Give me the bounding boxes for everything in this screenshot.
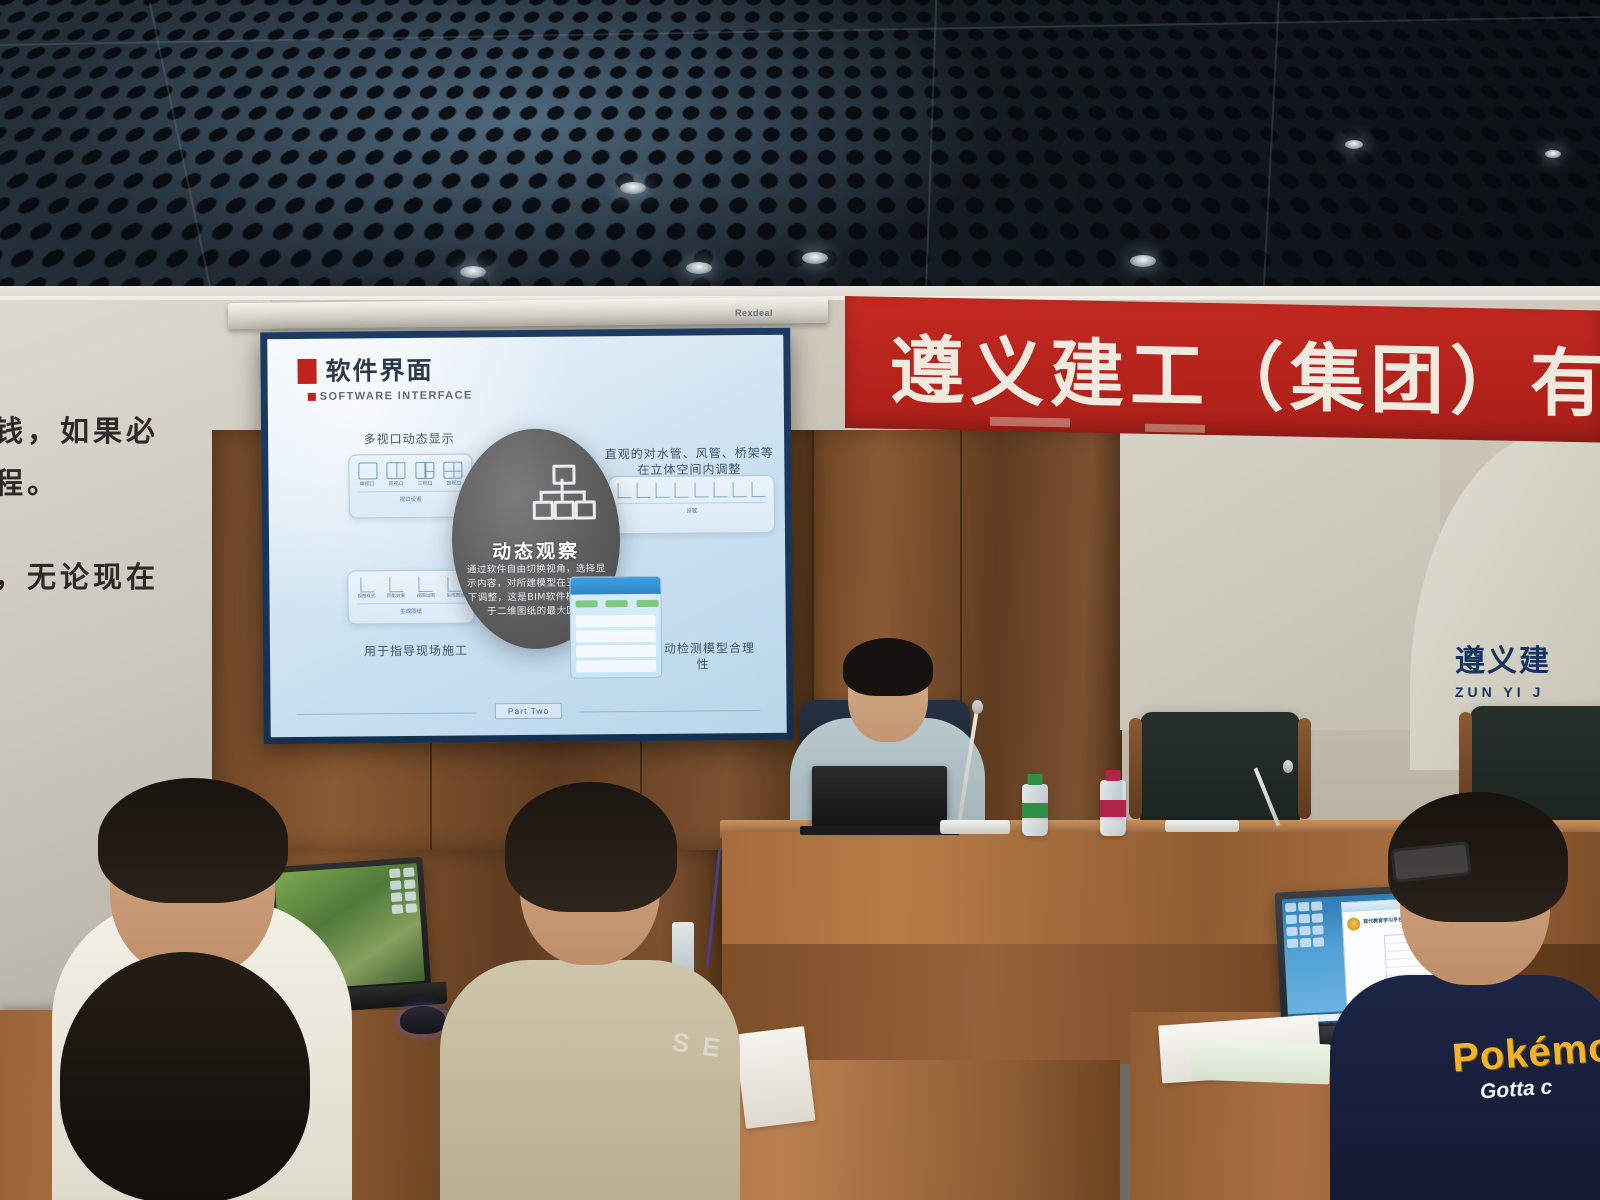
perforated-ceiling (0, 0, 1600, 300)
modeling-toolbar-card: 设置 (608, 475, 774, 534)
microphone-capsule (972, 700, 983, 714)
desktop-icon[interactable] (405, 891, 417, 901)
desktop-icon[interactable] (1299, 926, 1310, 936)
slide-footer-tag: Part Two (495, 703, 563, 720)
downlight (620, 182, 646, 194)
desktop-icon[interactable] (404, 879, 416, 889)
drawing-tool-captions: 视图样式 阴影效果 视图出图 生成图纸 (348, 592, 473, 599)
desktop-icon[interactable] (403, 867, 415, 877)
tool-caption: 生成图纸 (447, 593, 465, 599)
center-title: 动态观察 (452, 536, 620, 564)
drawing-tool-row (348, 570, 473, 593)
bottle-label (1022, 803, 1048, 819)
poster-line-1: 钱，如果必 (0, 405, 154, 457)
slide-label-top-left: 多视口动态显示 (334, 430, 484, 447)
panel-button[interactable] (576, 600, 598, 607)
panel-list-row (576, 615, 656, 628)
hierarchy-node-left (533, 501, 554, 520)
footer-rule-left (297, 712, 477, 715)
audience-person-white-shirt-hair (98, 778, 288, 903)
hierarchy-node-top (552, 465, 575, 485)
downlight (1130, 255, 1156, 267)
view-style-icon (361, 577, 375, 592)
desktop-icon[interactable] (1313, 937, 1324, 947)
banner-tape (990, 417, 1070, 428)
poster-line-3: ，无论现在 (0, 551, 154, 603)
conference-room-photo: 钱，如果必 程。 ，无论现在 。 遵义建 ZUN YI J 遵义建工（集团）有限… (0, 0, 1600, 1200)
drawing-tools-card: 视图样式 阴影效果 视图出图 生成图纸 生成图纸 (347, 569, 474, 624)
water-bottle-green[interactable] (1022, 784, 1048, 836)
desktop-icon[interactable] (1287, 939, 1298, 949)
downlight (686, 262, 712, 274)
desktop-icon[interactable] (391, 892, 403, 902)
slide-accent-square (308, 393, 316, 401)
slide-accent-box (297, 359, 316, 384)
projector-brand-label: Rexdeal (735, 308, 805, 318)
panel-button[interactable] (636, 600, 658, 607)
desktop-icon[interactable] (1299, 914, 1310, 924)
desktop-icon[interactable] (392, 904, 404, 914)
toolbar-footer: 设置 (618, 502, 766, 515)
desktop-icon[interactable] (1300, 938, 1311, 948)
desktop-icon[interactable] (1286, 927, 1297, 937)
desktop-icon[interactable] (1312, 925, 1323, 935)
panel-list-row (576, 645, 656, 658)
hierarchy-link (561, 479, 564, 491)
hierarchy-link (540, 491, 543, 501)
viewport-caption: 单视口 (359, 480, 374, 487)
viewport-triple-icon (415, 462, 434, 479)
viewport-dual-icon (387, 462, 406, 479)
desktop-icon[interactable] (1285, 903, 1296, 913)
viewport-caption: 四视口 (446, 480, 461, 487)
desktop-icon-grid[interactable] (389, 867, 417, 914)
poster-line-2: 程。 (0, 457, 154, 509)
downlight (460, 266, 486, 278)
desktop-icon[interactable] (1298, 902, 1309, 912)
banner-text: 遵义建工（集团）有限 (890, 311, 1600, 425)
light-wall-panel (1120, 430, 1440, 730)
presenter-laptop-screen[interactable] (812, 766, 947, 828)
gaming-mouse[interactable] (400, 1006, 446, 1034)
tool-caption: 视图出图 (417, 593, 435, 599)
hierarchy-node-right (575, 500, 596, 519)
projection-screen-frame: 软件界面 SOFTWARE INTERFACE 多视口动态显示 直观的对水管、风… (260, 328, 794, 745)
pipe-icon (656, 483, 670, 498)
microphone-capsule (1283, 760, 1293, 773)
panel-button[interactable] (606, 600, 628, 607)
footer-rule-right (581, 710, 761, 713)
list-icon (733, 482, 747, 497)
toolbar-icon-row (609, 476, 773, 499)
microphone-base (1165, 820, 1239, 832)
window-title: 现代教育学习平台 (1363, 916, 1403, 925)
desktop-icon[interactable] (1311, 901, 1322, 911)
audience-person-navy-shirt-body (1330, 975, 1600, 1200)
wall-sign-chinese: 遵义建 (1455, 636, 1600, 680)
wall-company-sign: 遵义建 ZUN YI J (1455, 636, 1600, 696)
viewport-caption: 三视口 (417, 480, 432, 487)
beam-icon (617, 483, 631, 498)
downlight (1345, 140, 1363, 149)
water-bottle-pink[interactable] (1100, 780, 1126, 836)
hook-icon (752, 482, 766, 497)
audience-person-tan-shirt-hair (505, 782, 677, 912)
elbow-icon (675, 483, 689, 498)
desktop-icon[interactable] (1312, 913, 1323, 923)
panel-button-row (571, 594, 661, 613)
wall-sign-english: ZUN YI J (1455, 684, 1600, 700)
model-check-panel (569, 576, 662, 679)
audience-person-foreground-head (60, 952, 310, 1200)
tool-caption: 阴影效果 (387, 593, 405, 599)
panel-list-row (576, 630, 656, 643)
bottle-cap (1028, 774, 1043, 785)
viewport-captions: 单视口 双视口 三视口 四视口 (350, 479, 472, 487)
slide-title: 软件界面 (325, 358, 433, 384)
panel-titlebar (570, 577, 660, 595)
audience-person-tan-shirt-body (440, 960, 740, 1200)
app-logo-icon (1347, 918, 1361, 932)
microphone-base (940, 820, 1010, 834)
notebook[interactable] (734, 1026, 815, 1129)
desktop-icon[interactable] (390, 880, 402, 890)
viewport-single-icon (358, 462, 377, 479)
downlight (802, 252, 828, 264)
shadow-effect-icon (389, 577, 403, 592)
downlight (1545, 150, 1561, 158)
slide-title-row: 软件界面 (297, 358, 433, 384)
view-output-icon (418, 577, 432, 592)
panel-list-row (576, 660, 656, 673)
viewport-quad-icon (444, 462, 463, 479)
slide-label-top-right: 直观的对水管、风管、桥架等在立体空间内调整 (604, 445, 774, 478)
slide-subtitle-row: SOFTWARE INTERFACE (308, 389, 473, 402)
viewport-icon-row (349, 454, 471, 480)
slide-subtitle: SOFTWARE INTERFACE (320, 389, 473, 402)
bend-icon (694, 482, 708, 497)
slide-label-bottom-left: 用于指导现场施工 (336, 642, 496, 659)
desktop-icon[interactable] (1286, 915, 1297, 925)
projection-screen: 软件界面 SOFTWARE INTERFACE 多视口动态显示 直观的对水管、风… (267, 335, 786, 737)
ceiling-perforation-pattern (0, 0, 1600, 300)
presenter-laptop-base[interactable] (800, 826, 960, 835)
paper-sheet[interactable] (1189, 1040, 1330, 1085)
desktop-icon[interactable] (406, 903, 418, 913)
drawing-tools-footer: 生成图纸 (357, 603, 466, 616)
hierarchy-link (583, 490, 586, 500)
hierarchy-node-mid (554, 501, 575, 520)
left-wall-poster: 钱，如果必 程。 ，无论现在 。 (0, 405, 154, 610)
viewport-footer: 视口设置 (358, 491, 464, 504)
slide-label-bottom-right: 自动检测模型合理性 (648, 640, 758, 673)
desktop-icon-grid[interactable] (1285, 901, 1323, 948)
presenter-hair (843, 638, 933, 696)
banner-tape (1145, 424, 1205, 433)
bottle-cap (1106, 770, 1121, 781)
tool-caption: 视图样式 (357, 593, 375, 599)
shirt-graphic-subtitle: Gotta c (1479, 1076, 1553, 1105)
hierarchy-link (561, 491, 564, 501)
bracket-icon (713, 482, 727, 497)
poster-line-4: 。 (0, 603, 154, 610)
viewport-caption: 双视口 (388, 480, 403, 487)
duct-icon (636, 483, 650, 498)
desktop-icon[interactable] (389, 868, 401, 878)
bottle-label (1100, 800, 1126, 817)
